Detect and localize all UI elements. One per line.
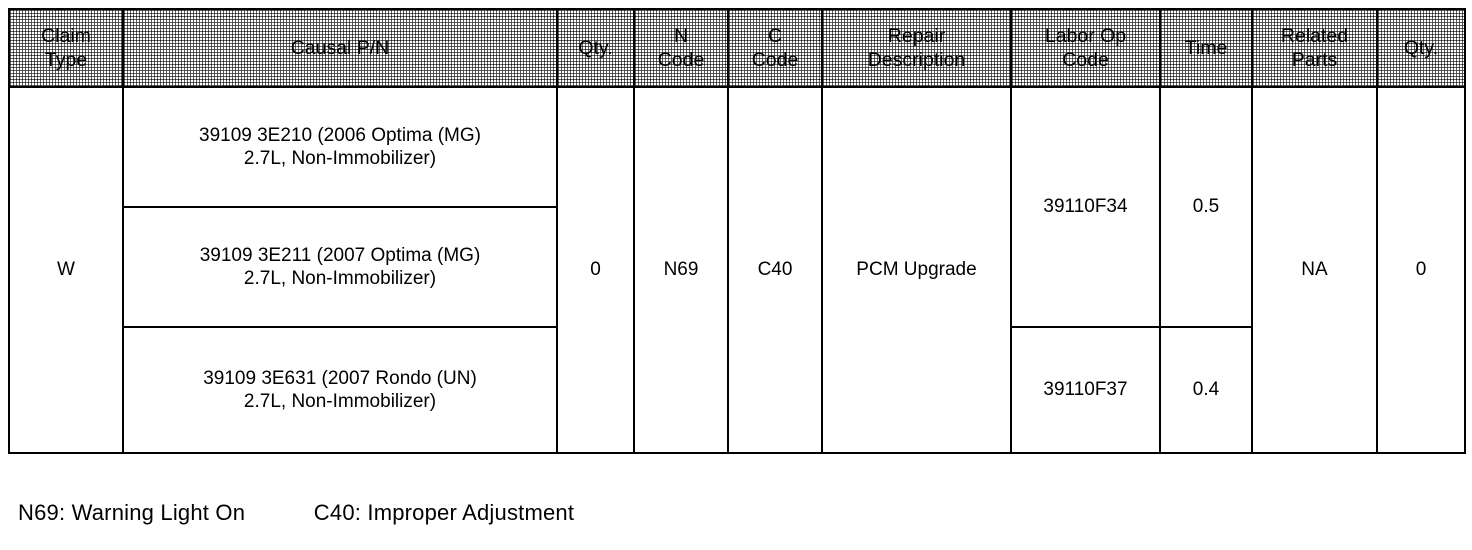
column-header-related-parts: Related Parts — [1252, 9, 1377, 87]
claim-information-table: Claim Type Causal P/N Qty. N Code C Code — [8, 8, 1466, 454]
column-header-c-code-line2: Code — [729, 48, 821, 72]
column-header-qty-causal: Qty. — [557, 9, 634, 87]
footnote-row: N69: Warning Light On C40: Improper Adju… — [18, 500, 574, 526]
table-header: Claim Type Causal P/N Qty. N Code C Code — [9, 9, 1465, 87]
column-header-claim-type-line1: Claim — [10, 24, 122, 48]
cell-c-code: C40 — [728, 87, 822, 453]
column-header-n-code: N Code — [634, 9, 728, 87]
cell-causal-pn-1-line1: 39109 3E210 (2006 Optima (MG) — [124, 124, 556, 147]
cell-causal-pn-2-line1: 39109 3E211 (2007 Optima (MG) — [124, 244, 556, 267]
column-header-qty-related-line1: Qty. — [1378, 36, 1464, 60]
column-header-labor-op-code-line1: Labor Op — [1012, 24, 1159, 48]
table-row: W 39109 3E210 (2006 Optima (MG) 2.7L, No… — [9, 87, 1465, 207]
cell-n-code: N69 — [634, 87, 728, 453]
column-header-repair-description-line1: Repair — [823, 24, 1010, 48]
cell-causal-pn-3: 39109 3E631 (2007 Rondo (UN) 2.7L, Non-I… — [123, 327, 557, 453]
column-header-n-code-line2: Code — [635, 48, 727, 72]
column-header-n-code-line1: N — [635, 24, 727, 48]
cell-labor-op-code-1: 39110F34 — [1011, 87, 1160, 327]
column-header-c-code-line1: C — [729, 24, 821, 48]
cell-related-parts: NA — [1252, 87, 1377, 453]
column-header-related-parts-line2: Parts — [1253, 48, 1376, 72]
cell-time-1: 0.5 — [1160, 87, 1252, 327]
column-header-repair-description: Repair Description — [822, 9, 1011, 87]
column-header-causal-pn: Causal P/N — [123, 9, 557, 87]
column-header-claim-type: Claim Type — [9, 9, 123, 87]
column-header-c-code: C Code — [728, 9, 822, 87]
cell-causal-pn-3-line1: 39109 3E631 (2007 Rondo (UN) — [124, 367, 556, 390]
claim-information-table-container: Claim Type Causal P/N Qty. N Code C Code — [8, 8, 1464, 454]
cell-time-2: 0.4 — [1160, 327, 1252, 453]
cell-qty-related: 0 — [1377, 87, 1465, 453]
table-header-row: Claim Type Causal P/N Qty. N Code C Code — [9, 9, 1465, 87]
cell-causal-pn-1-line2: 2.7L, Non-Immobilizer) — [124, 147, 556, 170]
column-header-labor-op-code: Labor Op Code — [1011, 9, 1160, 87]
footnote-n-code: N69: Warning Light On — [18, 500, 245, 525]
column-header-time: Time — [1160, 9, 1252, 87]
cell-labor-op-code-2: 39110F37 — [1011, 327, 1160, 453]
cell-causal-pn-3-line2: 2.7L, Non-Immobilizer) — [124, 390, 556, 413]
column-header-qty-causal-line1: Qty. — [558, 36, 633, 60]
cell-causal-pn-1: 39109 3E210 (2006 Optima (MG) 2.7L, Non-… — [123, 87, 557, 207]
column-header-causal-pn-line1: Causal P/N — [124, 36, 556, 60]
table-body: W 39109 3E210 (2006 Optima (MG) 2.7L, No… — [9, 87, 1465, 453]
cell-repair-description: PCM Upgrade — [822, 87, 1011, 453]
cell-causal-pn-2-line2: 2.7L, Non-Immobilizer) — [124, 267, 556, 290]
column-header-labor-op-code-line2: Code — [1012, 48, 1159, 72]
cell-claim-type: W — [9, 87, 123, 453]
column-header-repair-description-line2: Description — [823, 48, 1010, 72]
cell-qty-causal: 0 — [557, 87, 634, 453]
column-header-time-line1: Time — [1161, 36, 1251, 60]
column-header-claim-type-line2: Type — [10, 48, 122, 72]
column-header-related-parts-line1: Related — [1253, 24, 1376, 48]
cell-causal-pn-2: 39109 3E211 (2007 Optima (MG) 2.7L, Non-… — [123, 207, 557, 327]
column-header-qty-related: Qty. — [1377, 9, 1465, 87]
footnote-c-code: C40: Improper Adjustment — [314, 500, 574, 525]
